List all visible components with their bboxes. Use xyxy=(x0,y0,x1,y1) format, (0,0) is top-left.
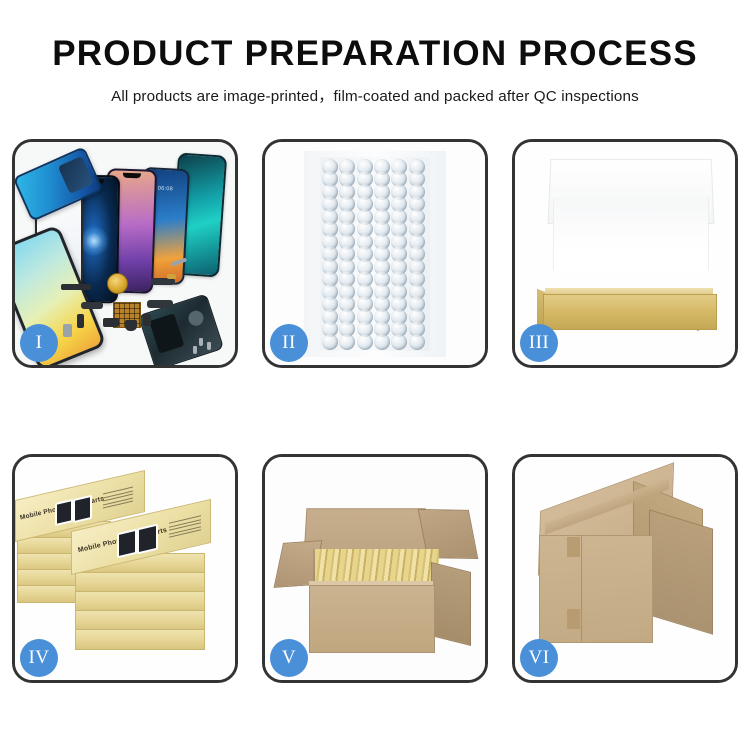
sim-tray-icon xyxy=(63,324,72,337)
step-panel-5[interactable]: V xyxy=(262,454,488,683)
speaker-mesh-icon xyxy=(61,284,91,290)
box-artwork-screen xyxy=(117,529,137,559)
flex-cable-icon xyxy=(81,302,103,309)
bubble-cell xyxy=(322,334,338,350)
step-panel-3[interactable]: III xyxy=(512,139,738,368)
packing-tape-front-icon xyxy=(567,537,580,557)
step-panel-1[interactable]: 06:08 xyxy=(12,139,238,368)
step-badge-6: VI xyxy=(520,639,558,677)
phone-clock-label: 06:08 xyxy=(158,186,174,193)
carton-right-side-icon xyxy=(649,509,713,635)
screw-icon xyxy=(199,338,203,346)
product-preparation-infographic: PRODUCT PREPARATION PROCESS All products… xyxy=(0,0,750,750)
flex-cable-icon xyxy=(147,300,173,308)
bubble-cell xyxy=(391,334,407,350)
box-artwork-screen xyxy=(73,495,92,523)
step-badge-1: I xyxy=(20,324,58,362)
header: PRODUCT PREPARATION PROCESS All products… xyxy=(0,0,750,106)
stacked-box xyxy=(75,572,205,593)
phone-notch-icon xyxy=(123,173,141,179)
stacked-box xyxy=(75,629,205,650)
steps-grid: 06:08 xyxy=(12,139,738,683)
connector-icon xyxy=(77,314,84,328)
bubble-cell xyxy=(357,334,373,350)
bubble-cell xyxy=(339,334,355,350)
stacked-box xyxy=(75,610,205,631)
stacked-box xyxy=(75,591,205,612)
packing-tape-front-icon xyxy=(567,609,580,629)
gold-connector-icon xyxy=(167,274,176,279)
step-panel-4[interactable]: Mobile Phone Spare Parts Mobile Phone Sp… xyxy=(12,454,238,683)
step-badge-2: II xyxy=(270,324,308,362)
carton-seam-icon xyxy=(581,535,582,641)
screw-icon xyxy=(207,342,211,350)
flex-cable-icon xyxy=(151,278,175,285)
bubble-cell xyxy=(409,334,425,350)
carton-right-side-icon xyxy=(431,562,471,646)
charging-coil-icon xyxy=(107,273,128,294)
step-panel-6[interactable]: VI xyxy=(512,454,738,683)
camera-module-icon xyxy=(103,318,119,327)
carton-front-panel-icon xyxy=(309,585,435,653)
vibrator-motor-icon xyxy=(125,320,137,331)
box-inner-wall-icon xyxy=(553,198,709,270)
screw-icon xyxy=(193,346,197,354)
bubble-wrap-icon xyxy=(323,160,427,348)
step-badge-5: V xyxy=(270,639,308,677)
box-artwork-screen xyxy=(137,524,158,555)
bubble-cell xyxy=(374,334,390,350)
box-artwork-screen xyxy=(55,499,73,526)
carton-front-face-icon xyxy=(539,535,653,643)
page-title: PRODUCT PREPARATION PROCESS xyxy=(0,36,750,73)
step-badge-3: III xyxy=(520,324,558,362)
page-subtitle: All products are image-printed，film-coat… xyxy=(0,84,750,106)
button-module-icon xyxy=(143,314,151,326)
step-badge-4: IV xyxy=(20,639,58,677)
box-front-panel-icon xyxy=(543,294,717,330)
step-panel-2[interactable]: II xyxy=(262,139,488,368)
